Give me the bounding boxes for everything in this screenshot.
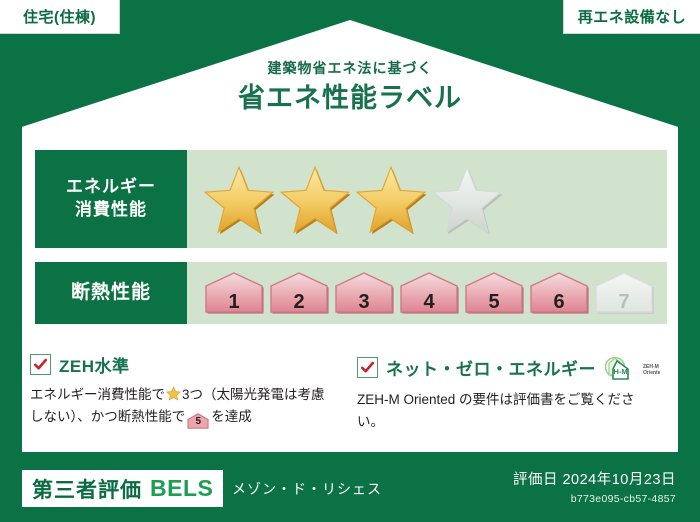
insulation-grade-value: 3 — [358, 292, 369, 312]
energy-performance-label: エネルギー 消費性能 — [35, 150, 187, 248]
footer-bar: 第三者評価 BELS メゾン・ド・リシェス 評価日 2024年10月23日 b7… — [0, 456, 700, 522]
evaluation-id: b773e095-cb57-4857 — [513, 493, 676, 505]
insulation-performance-row: 断熱性能 1234567 — [35, 262, 667, 324]
insulation-grade-item: 3 — [333, 271, 395, 315]
star-filled-icon — [203, 164, 275, 234]
insulation-grade-value: 4 — [423, 292, 434, 312]
insulation-grade-item: 4 — [398, 271, 460, 315]
insulation-grade-value: 7 — [618, 292, 629, 312]
bels-badge: 第三者評価 BELS — [22, 470, 223, 507]
net-zero-body: ZEH-M Oriented の要件は評価書をご覧ください。 — [357, 389, 657, 433]
star-filled-icon — [355, 164, 427, 234]
building-type-tag-label: 住宅(住棟) — [23, 6, 96, 27]
net-zero-energy-section: ネット・ゼロ・エネルギー H-M ZEH-M Oriented ZEH-M Or… — [357, 352, 657, 433]
insulation-performance-content: 1234567 — [187, 262, 667, 324]
insulation-grade-value: 1 — [228, 292, 239, 312]
inline-grade-value: 5 — [187, 413, 209, 430]
star-empty-icon — [431, 164, 503, 234]
energy-label-root: 住宅(住棟) 再エネ設備なし 建築物省エネ法に基づく 省エネ性能ラベル エネルギ… — [0, 0, 700, 522]
star-filled-icon — [279, 164, 351, 234]
inline-grade-badge: 5 — [187, 413, 209, 429]
title-block: 建築物省エネ法に基づく 省エネ性能ラベル — [0, 60, 700, 114]
energy-performance-row: エネルギー 消費性能 — [35, 150, 667, 248]
zeh-m-oriented-logo-icon: H-M ZEH-M Oriented — [604, 352, 660, 382]
page-title: 省エネ性能ラベル — [0, 83, 700, 114]
building-type-tag: 住宅(住棟) — [0, 0, 120, 34]
check-icon — [33, 357, 48, 372]
insulation-grade-item: 6 — [528, 271, 590, 315]
net-zero-title: ネット・ゼロ・エネルギー — [386, 355, 596, 380]
insulation-grade-item: 5 — [463, 271, 525, 315]
insulation-grade-value: 5 — [488, 292, 499, 312]
zeh-standard-section: ZEH水準 エネルギー消費性能で3つ（太陽光発電は考慮しない）、かつ断熱性能で5… — [30, 352, 330, 429]
bels-jp-label: 第三者評価 — [32, 474, 142, 504]
zeh-body-part1: エネルギー消費性能で — [30, 387, 165, 402]
insulation-grade-item: 1 — [203, 271, 265, 315]
insulation-grade-scale: 1234567 — [203, 271, 655, 315]
energy-label-line2: 消費性能 — [66, 199, 156, 222]
insulation-grade-value: 6 — [553, 292, 564, 312]
insulation-grade-value: 2 — [293, 292, 304, 312]
insulation-performance-label: 断熱性能 — [35, 262, 187, 324]
evaluation-date: 評価日 2024年10月23日 — [513, 468, 676, 489]
zeh-standard-title: ZEH水準 — [59, 352, 130, 377]
inline-star-icon — [166, 386, 181, 401]
insulation-grade-item-inactive: 7 — [593, 271, 655, 315]
energy-performance-content — [187, 150, 667, 248]
zeh-checkbox — [30, 354, 51, 375]
net-zero-header: ネット・ゼロ・エネルギー H-M ZEH-M Oriented — [357, 352, 657, 382]
energy-label-line1: エネルギー — [66, 176, 156, 199]
building-name: メゾン・ド・リシェス — [232, 479, 382, 499]
zeh-standard-body: エネルギー消費性能で3つ（太陽光発電は考慮しない）、かつ断熱性能で5を達成 — [30, 384, 330, 429]
zeh-body-part3: を達成 — [211, 409, 252, 424]
evaluation-info: 評価日 2024年10月23日 b773e095-cb57-4857 — [513, 468, 676, 505]
svg-text:H-M: H-M — [613, 367, 627, 376]
star-rating — [203, 164, 503, 234]
net-zero-checkbox — [357, 357, 378, 378]
bels-en-label: BELS — [150, 475, 213, 502]
title-subtitle: 建築物省エネ法に基づく — [0, 60, 700, 77]
insulation-grade-item: 2 — [268, 271, 330, 315]
svg-text:Oriented: Oriented — [643, 370, 660, 376]
renewable-energy-tag: 再エネ設備なし — [563, 0, 700, 34]
renewable-energy-tag-label: 再エネ設備なし — [578, 6, 687, 27]
zeh-standard-header: ZEH水準 — [30, 352, 330, 377]
check-icon — [360, 360, 375, 375]
